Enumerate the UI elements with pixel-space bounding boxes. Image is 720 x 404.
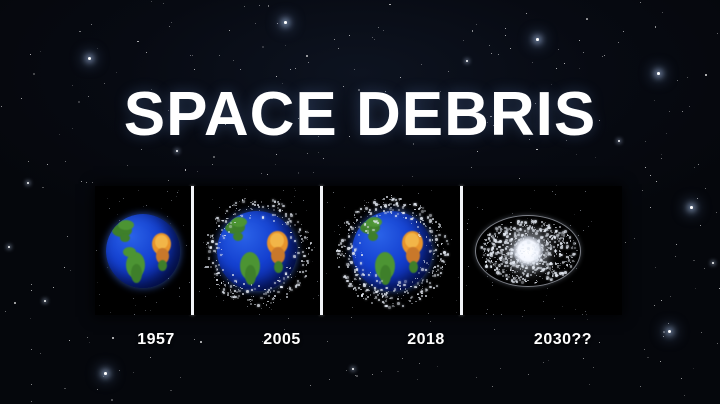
timeline-panel-2005[interactable] bbox=[194, 186, 320, 315]
timeline-panel-2018[interactable] bbox=[323, 186, 460, 315]
page-title: SPACE DEBRIS bbox=[0, 84, 720, 146]
earth-globe bbox=[217, 211, 297, 291]
space-debris-infographic: SPACE DEBRIS bbox=[0, 0, 720, 404]
timeline-filmstrip bbox=[95, 186, 622, 315]
year-label-2005: 2005 bbox=[263, 329, 301, 351]
earth-2018 bbox=[344, 203, 440, 299]
year-label-1957: 1957 bbox=[137, 329, 175, 351]
earth-2005 bbox=[209, 203, 305, 299]
earth-globe bbox=[106, 214, 180, 288]
earth-core-glow bbox=[513, 236, 543, 266]
earth-1957 bbox=[95, 203, 191, 299]
year-label-row: 1957 2005 2018 2030?? bbox=[95, 329, 622, 351]
year-label-2018: 2018 bbox=[407, 329, 445, 351]
timeline-panel-2030[interactable] bbox=[463, 186, 593, 315]
year-label-2030: 2030?? bbox=[534, 329, 592, 351]
timeline-panel-1957[interactable] bbox=[95, 186, 191, 315]
earth-globe bbox=[352, 211, 432, 291]
